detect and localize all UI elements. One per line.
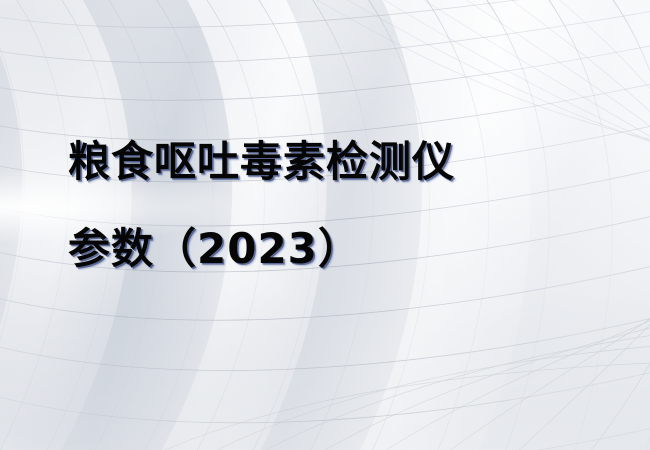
title-line-1: 粮食呕吐毒素检测仪 — [68, 118, 588, 205]
banner-image: 粮食呕吐毒素检测仪 参数（2023） — [0, 0, 650, 450]
banner-title: 粮食呕吐毒素检测仪 参数（2023） — [68, 118, 588, 292]
title-line-2: 参数（2023） — [68, 205, 588, 292]
